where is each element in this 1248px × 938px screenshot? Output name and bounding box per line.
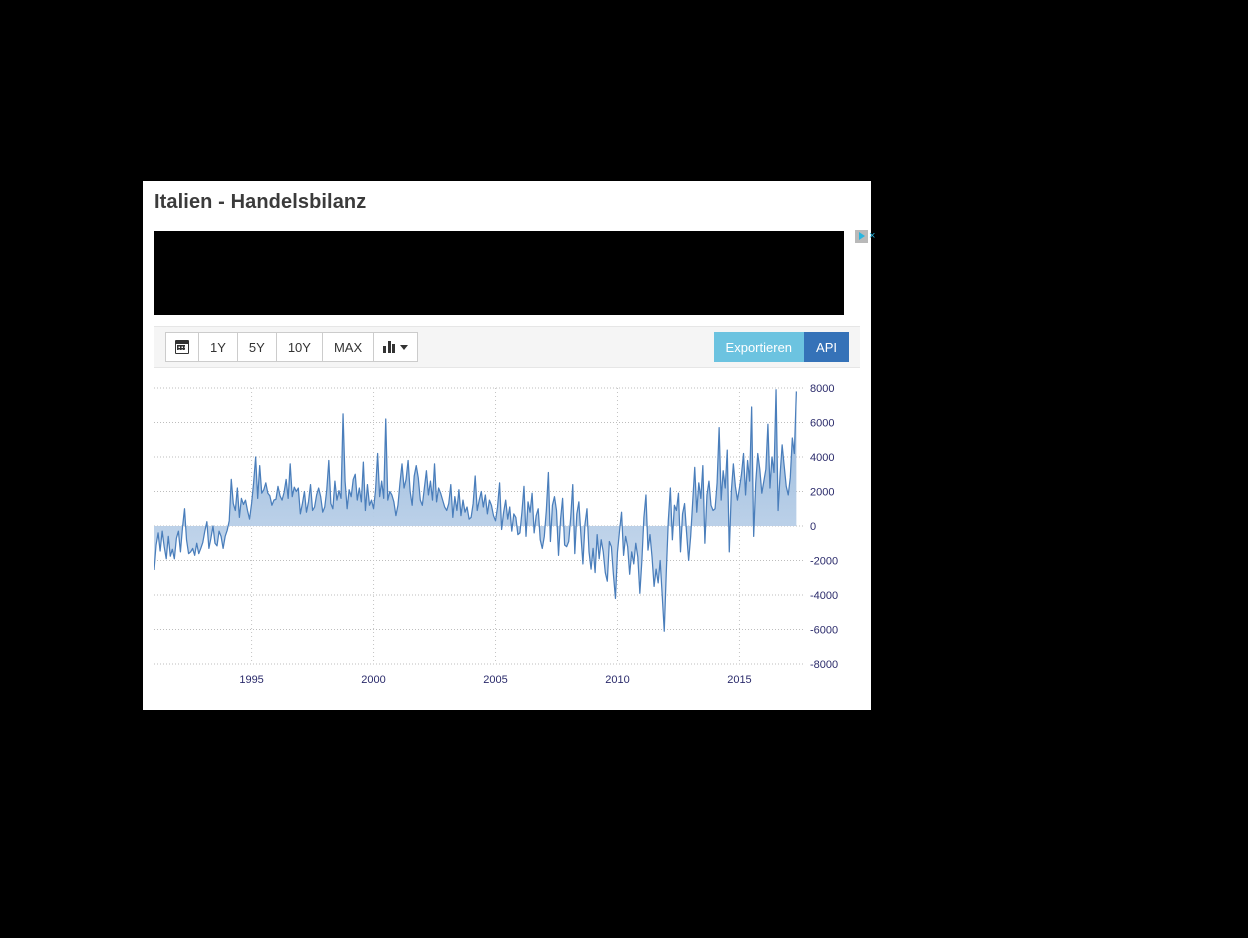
action-button-group: Exportieren API [714, 332, 849, 362]
y-tick-label: 6000 [810, 418, 834, 430]
ad-banner[interactable] [154, 231, 844, 315]
chevron-down-icon [400, 345, 408, 350]
adchoices-badge[interactable]: × [855, 229, 879, 243]
chart-x-axis-labels: 19952000200520102015 [239, 674, 751, 686]
y-tick-label: 0 [810, 521, 816, 533]
y-tick-label: -2000 [810, 556, 838, 568]
y-tick-label: 2000 [810, 487, 834, 499]
chart-y-axis-labels: 80006000400020000-2000-4000-6000-8000 [810, 383, 838, 671]
chart-card: Italien - Handelsbilanz × 1Y 5Y 10Y MAX [143, 181, 871, 710]
y-tick-label: -8000 [810, 659, 838, 671]
api-button[interactable]: API [804, 332, 849, 362]
chart-toolbar: 1Y 5Y 10Y MAX Exportieren API [154, 326, 860, 368]
range-button-10y[interactable]: 10Y [276, 332, 322, 362]
range-button-group: 1Y 5Y 10Y MAX [165, 332, 418, 362]
range-button-5y[interactable]: 5Y [237, 332, 276, 362]
y-tick-label: -4000 [810, 590, 838, 602]
adchoices-icon[interactable] [855, 230, 868, 243]
ad-close-icon[interactable]: × [869, 231, 875, 242]
y-tick-label: -6000 [810, 625, 838, 637]
chart-area[interactable]: 80006000400020000-2000-4000-6000-8000 19… [154, 377, 860, 697]
screen-root: Italien - Handelsbilanz × 1Y 5Y 10Y MAX [0, 0, 1248, 938]
calendar-icon [175, 340, 189, 354]
x-tick-label: 1995 [239, 674, 263, 686]
x-tick-label: 2000 [361, 674, 385, 686]
range-button-max[interactable]: MAX [322, 332, 373, 362]
range-button-1y[interactable]: 1Y [198, 332, 237, 362]
adchoices-triangle-icon [859, 232, 865, 240]
x-tick-label: 2015 [727, 674, 751, 686]
chart-type-dropdown[interactable] [373, 332, 418, 362]
page-title: Italien - Handelsbilanz [154, 191, 366, 214]
y-tick-label: 8000 [810, 383, 834, 395]
export-button[interactable]: Exportieren [714, 332, 804, 362]
x-tick-label: 2005 [483, 674, 507, 686]
bar-chart-icon [383, 341, 395, 353]
trade-balance-chart[interactable]: 80006000400020000-2000-4000-6000-8000 19… [154, 377, 860, 697]
y-tick-label: 4000 [810, 452, 834, 464]
x-tick-label: 2010 [605, 674, 629, 686]
calendar-button[interactable] [165, 332, 198, 362]
